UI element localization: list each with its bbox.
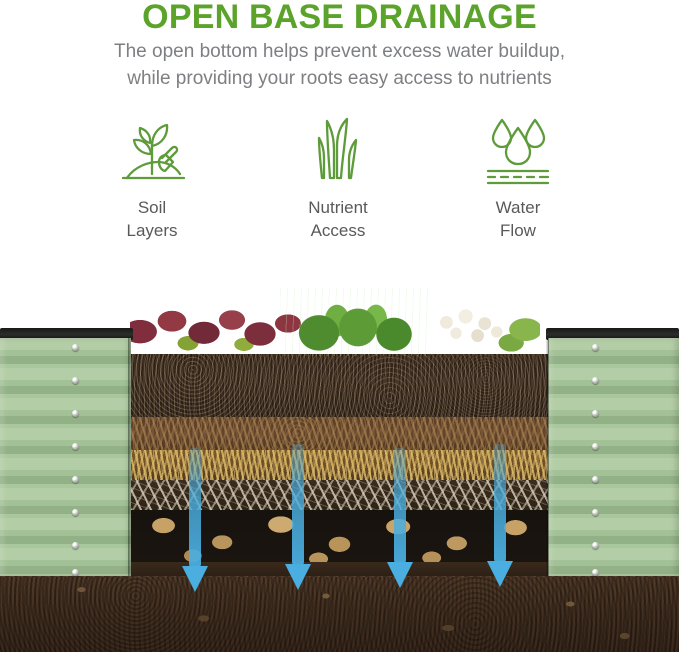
drainage-arrow-3 — [387, 448, 413, 588]
feature-soil-layers: Soil Layers — [62, 112, 242, 242]
page-subtitle: The open bottom helps prevent excess wat… — [0, 38, 679, 92]
water-droplets-icon — [428, 112, 608, 190]
feature-label-line-1: Soil — [62, 196, 242, 219]
screw — [592, 344, 599, 351]
bed-panel-right — [548, 338, 679, 576]
feature-nutrient-access-label: Nutrient Access — [248, 196, 428, 242]
feature-water-flow: Water Flow — [428, 112, 608, 242]
feature-nutrient-access: Nutrient Access — [248, 112, 428, 242]
page-title: OPEN BASE DRAINAGE — [0, 0, 679, 36]
screw — [72, 344, 79, 351]
screw — [592, 542, 599, 549]
feature-label-line-2: Layers — [62, 219, 242, 242]
screw — [592, 569, 599, 576]
arrow-head — [387, 562, 413, 588]
feature-label-line-1: Nutrient — [248, 196, 428, 219]
screw — [72, 569, 79, 576]
romaine-lettuce — [280, 288, 430, 356]
arrow-head — [182, 566, 208, 592]
drainage-arrow-4 — [487, 444, 513, 586]
feature-label-line-1: Water — [428, 196, 608, 219]
grass-blades-icon — [248, 112, 428, 190]
bed-panel-left-edge — [128, 338, 131, 576]
arrow-shaft — [394, 448, 406, 564]
subtitle-line-2: while providing your roots easy access t… — [0, 65, 679, 92]
screw — [72, 476, 79, 483]
bed-screw-column-left — [72, 338, 86, 576]
arrow-shaft — [292, 444, 304, 566]
screw — [72, 443, 79, 450]
sprout-trowel-icon — [62, 112, 242, 190]
drainage-arrow-1 — [182, 448, 208, 592]
drainage-arrow-2 — [285, 444, 311, 588]
screw — [72, 410, 79, 417]
screw — [592, 476, 599, 483]
screw — [72, 377, 79, 384]
feature-label-line-2: Flow — [428, 219, 608, 242]
arrow-head — [285, 564, 311, 590]
feature-label-line-2: Access — [248, 219, 428, 242]
bed-panel-right-edge — [546, 338, 549, 576]
feature-soil-layers-label: Soil Layers — [62, 196, 242, 242]
arrow-head — [487, 561, 513, 587]
native-ground-soil — [0, 572, 679, 652]
garden-bed-cross-section — [0, 262, 679, 652]
product-feature-image: OPEN BASE DRAINAGE The open bottom helps… — [0, 0, 679, 652]
screw — [592, 410, 599, 417]
header: OPEN BASE DRAINAGE The open bottom helps… — [0, 0, 679, 104]
screw — [72, 542, 79, 549]
subtitle-line-1: The open bottom helps prevent excess wat… — [0, 38, 679, 65]
screw — [592, 509, 599, 516]
arrow-shaft — [494, 444, 506, 563]
bed-screw-column-right — [592, 338, 606, 576]
arrow-shaft — [189, 448, 201, 568]
bed-panel-left — [0, 338, 131, 576]
plant-row — [130, 284, 549, 356]
feature-list: Soil Layers Nutrient Access — [0, 112, 679, 252]
cauliflower — [420, 296, 540, 356]
feature-water-flow-label: Water Flow — [428, 196, 608, 242]
screw — [592, 443, 599, 450]
screw — [592, 377, 599, 384]
compost-topsoil-layer — [130, 354, 549, 417]
screw — [72, 509, 79, 516]
